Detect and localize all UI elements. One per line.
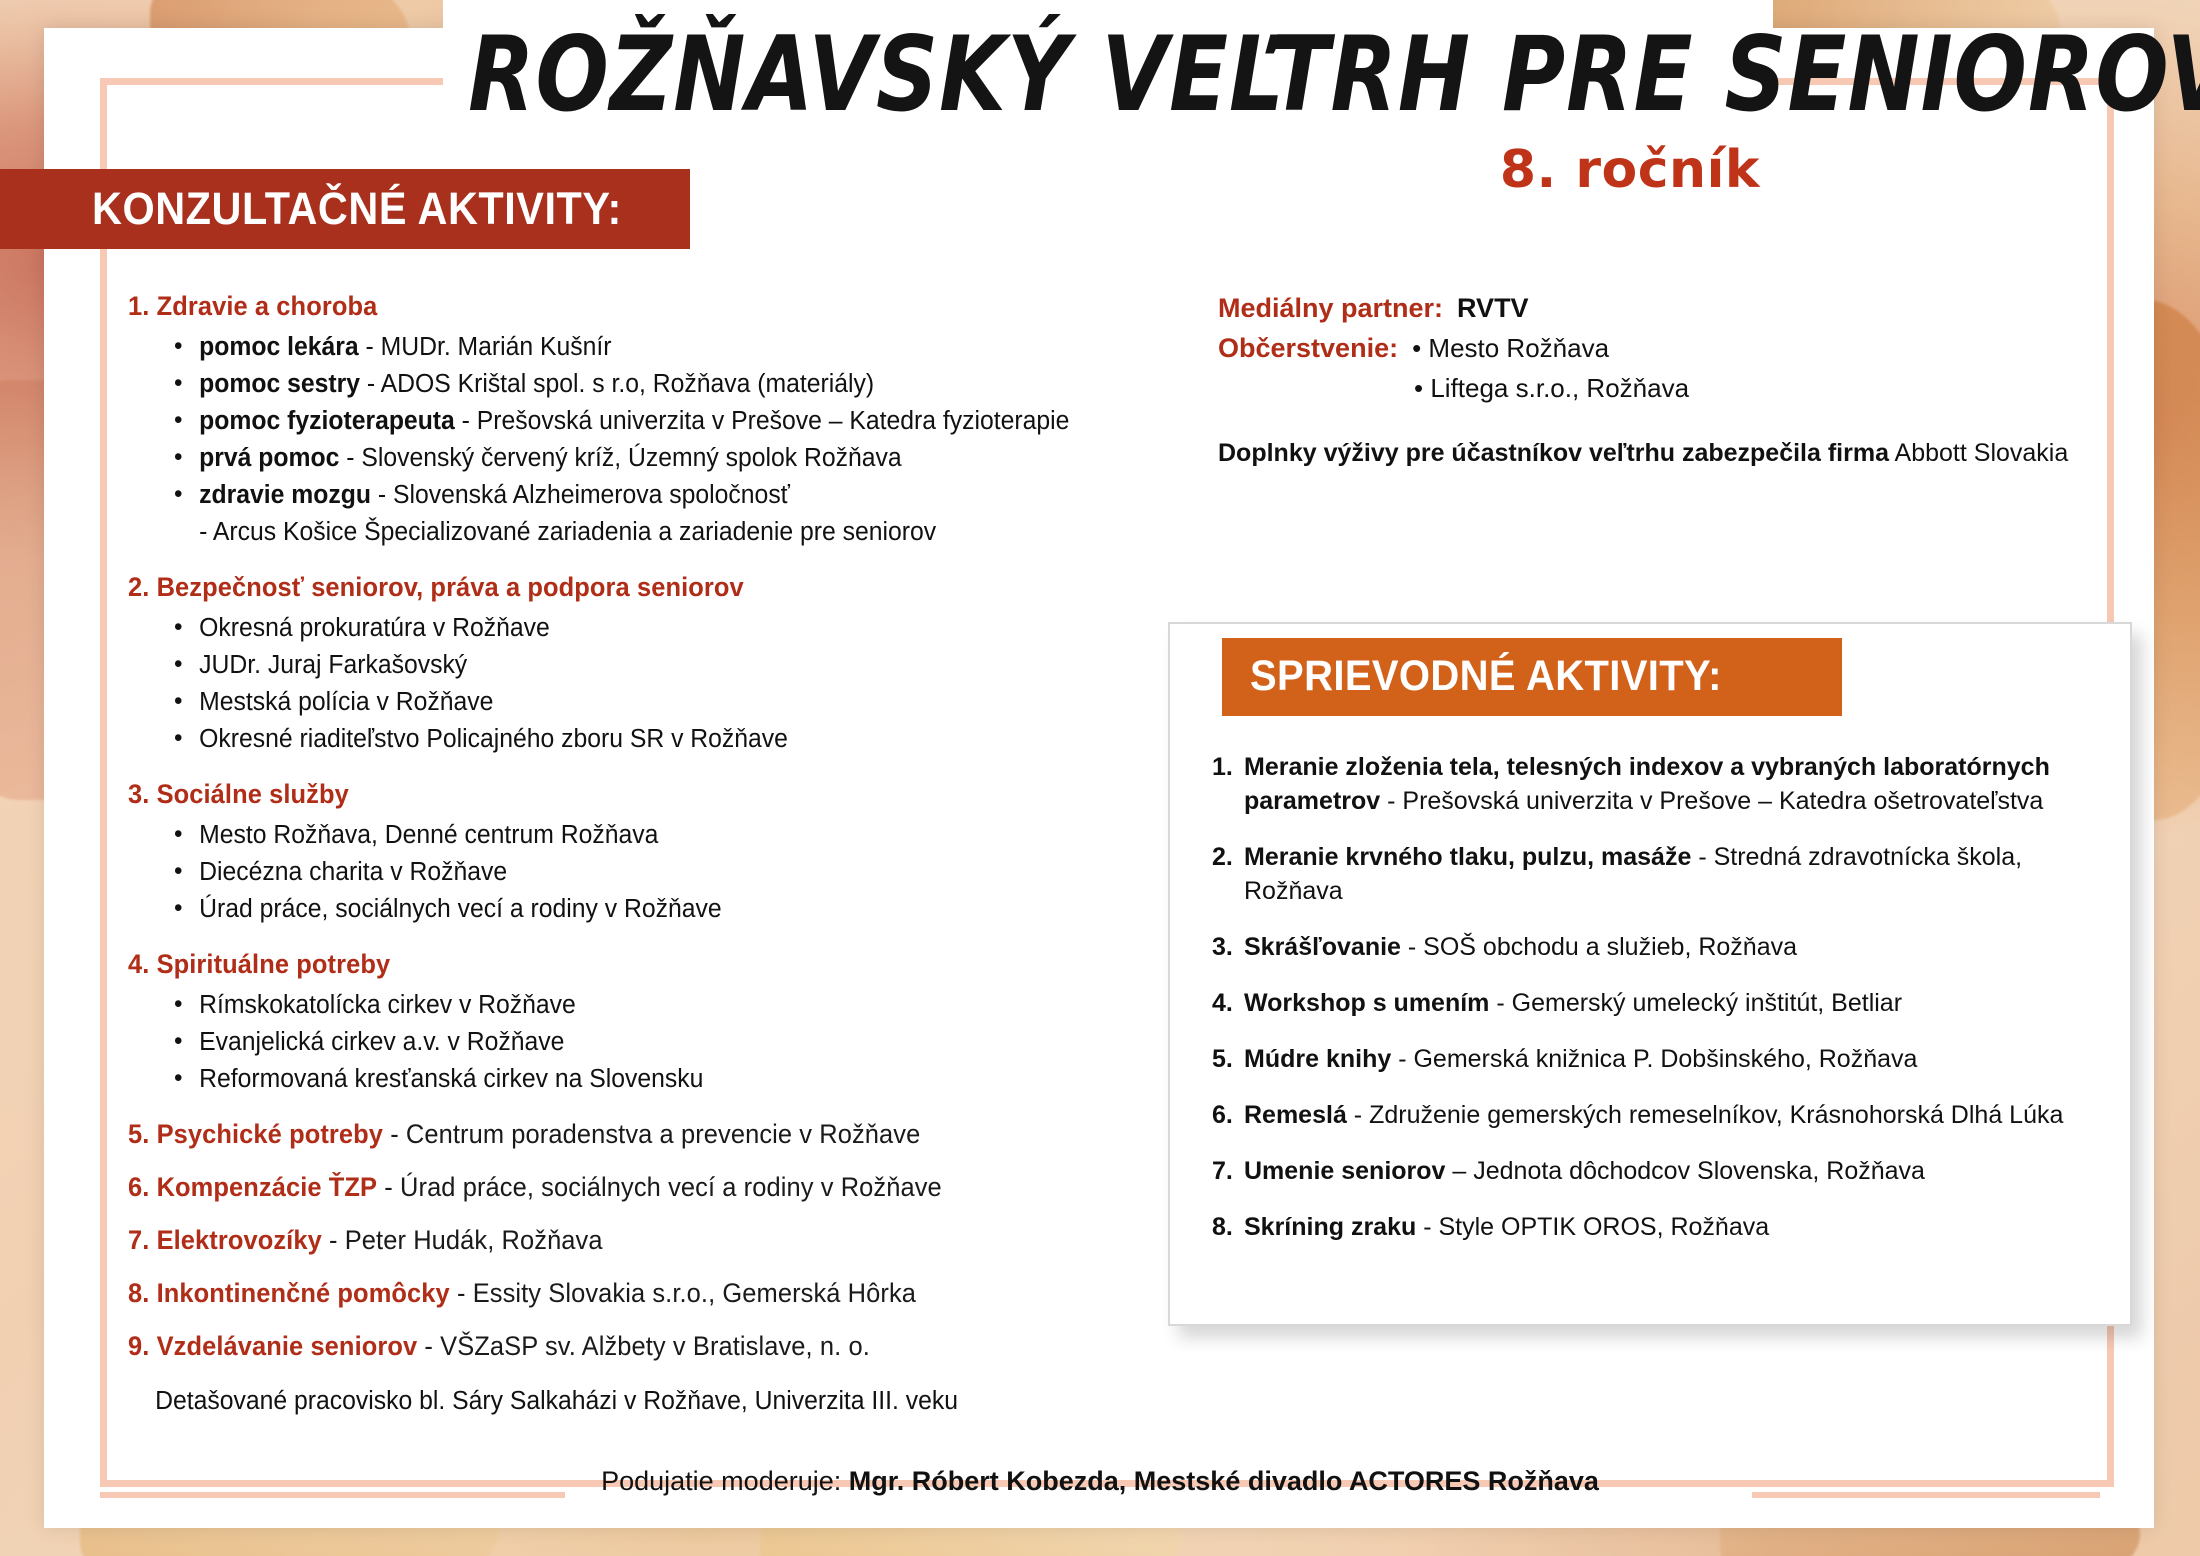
refreshment-row-2: Liftega s.r.o., Rožňava: [1218, 368, 2118, 408]
list-item-detail: - ADOS Krištal spol. s r.o, Rožňava (mat…: [360, 370, 874, 398]
list-item: pomoc fyzioterapeuta - Prešovská univerz…: [172, 403, 1158, 440]
accompanying-item-text: Skrášľovanie - SOŠ obchodu a služieb, Ro…: [1244, 930, 2092, 964]
accompanying-item-term: Remeslá: [1244, 1101, 1347, 1129]
accompanying-item-number: 8.: [1212, 1210, 1244, 1244]
list-item: Evanjelická cirkev a.v. v Rožňave: [172, 1024, 1158, 1061]
refreshment-item: Mesto Rožňava: [1412, 328, 1609, 368]
list-item: Okresná prokuratúra v Rožňave: [172, 610, 1158, 647]
accompanying-item-detail: - SOŠ obchodu a služieb, Rožňava: [1401, 933, 1797, 961]
list-item: zdravie mozgu - Slovenská Alzheimerova s…: [172, 477, 1158, 514]
edition-subtitle: 8. ročník: [1500, 140, 1760, 200]
accompanying-item-number: 4.: [1212, 986, 1244, 1020]
accompanying-item-detail: - Gemerský umelecký inštitút, Betliar: [1489, 989, 1902, 1017]
moderator-name: Mgr. Róbert Kobezda, Mestské divadlo ACT…: [841, 1466, 1599, 1496]
list-item: Rímskokatolícka cirkev v Rožňave: [172, 987, 1158, 1024]
list-item-detail: - Arcus Košice Špecializované zariadenia…: [199, 518, 936, 546]
accompanying-item-detail: – Jednota dôchodcov Slovenska, Rožňava: [1445, 1157, 1924, 1185]
accompanying-item-text: Skríning zraku - Style OPTIK OROS, Rožňa…: [1244, 1210, 2092, 1244]
accompanying-item: 6.Remeslá - Združenie gemerských remesel…: [1212, 1098, 2092, 1132]
consult-inline-detail: - Centrum poradenstva a prevencie v Rožň…: [383, 1119, 920, 1149]
list-item-detail: Reformovaná kresťanská cirkev na Slovens…: [199, 1065, 703, 1093]
accompanying-item: 3.Skrášľovanie - SOŠ obchodu a služieb, …: [1212, 930, 2092, 964]
consult-column: 1. Zdravie a chorobapomoc lekára - MUDr.…: [128, 290, 1188, 1420]
supplements-note-bold: Doplnky výživy pre účastníkov veľtrhu za…: [1218, 439, 1889, 467]
consult-inline-section: 5. Psychické potreby - Centrum poradenst…: [128, 1118, 1146, 1150]
poster-root: ROŽŇAVSKÝ VEĽTRH PRE SENIOROV 8. ročník …: [0, 0, 2200, 1556]
list-item: Reformovaná kresťanská cirkev na Slovens…: [172, 1061, 1158, 1098]
list-item-term: pomoc sestry: [199, 370, 360, 398]
list-item-detail: - Prešovská univerzita v Prešove – Kated…: [455, 407, 1070, 435]
accompanying-item-detail: - Style OPTIK OROS, Rožňava: [1416, 1213, 1769, 1241]
consult-inline-heading: 6. Kompenzácie ŤZP: [128, 1172, 377, 1202]
consult-section-heading: 1. Zdravie a choroba: [128, 290, 1146, 322]
list-item: Mestská polícia v Rožňave: [172, 684, 1158, 721]
accompanying-item-detail: - Združenie gemerských remeselníkov, Krá…: [1347, 1101, 2064, 1129]
accompanying-item-text: Remeslá - Združenie gemerských remeselní…: [1244, 1098, 2092, 1132]
consult-inline-detail: - Peter Hudák, Rožňava: [322, 1225, 603, 1255]
refreshment-item: Liftega s.r.o., Rožňava: [1414, 368, 1689, 408]
accompanying-list: 1.Meranie zloženia tela, telesných index…: [1212, 750, 2092, 1266]
accompanying-item-detail: - Prešovská univerzita v Prešove – Kated…: [1380, 787, 2043, 815]
list-item-term: prvá pomoc: [199, 444, 339, 472]
list-item-detail: Rímskokatolícka cirkev v Rožňave: [199, 991, 576, 1019]
list-item-detail: Mestská polícia v Rožňave: [199, 688, 493, 716]
partners-block: Mediálny partner: RVTV Občerstvenie: Mes…: [1218, 288, 2118, 470]
accompanying-item-term: Meranie krvného tlaku, pulzu, masáže: [1244, 843, 1691, 871]
page-title: ROŽŇAVSKÝ VEĽTRH PRE SENIOROV: [468, 18, 1752, 131]
consult-section-items: Okresná prokuratúra v RožňaveJUDr. Juraj…: [128, 610, 1188, 758]
list-item: prvá pomoc - Slovenský červený kríž, Úze…: [172, 440, 1158, 477]
list-item: Úrad práce, sociálnych vecí a rodiny v R…: [172, 891, 1158, 928]
list-item: pomoc sestry - ADOS Krištal spol. s r.o,…: [172, 366, 1158, 403]
moderator-line: Podujatie moderuje: Mgr. Róbert Kobezda,…: [601, 1466, 1599, 1497]
accompanying-item: 4.Workshop s umením - Gemerský umelecký …: [1212, 986, 2092, 1020]
consult-section-items: pomoc lekára - MUDr. Marián Kušnírpomoc …: [128, 329, 1188, 551]
consult-inline-section: 8. Inkontinenčné pomôcky - Essity Slovak…: [128, 1277, 1146, 1309]
accompanying-banner-label: SPRIEVODNÉ AKTIVITY:: [1250, 652, 1722, 701]
list-item-detail: Mesto Rožňava, Denné centrum Rožňava: [199, 821, 658, 849]
media-partner-value: RVTV: [1457, 288, 1529, 328]
list-item: pomoc lekára - MUDr. Marián Kušnír: [172, 329, 1158, 366]
accompanying-item-number: 2.: [1212, 840, 1244, 908]
consult-inline-section: 7. Elektrovozíky - Peter Hudák, Rožňava: [128, 1224, 1146, 1256]
moderator-prefix: Podujatie moderuje:: [601, 1466, 841, 1496]
accompanying-item-number: 6.: [1212, 1098, 1244, 1132]
accompanying-item-term: Skríning zraku: [1244, 1213, 1416, 1241]
media-partner-row: Mediálny partner: RVTV: [1218, 288, 2118, 328]
accompanying-item-number: 5.: [1212, 1042, 1244, 1076]
accompanying-item: 7.Umenie seniorov – Jednota dôchodcov Sl…: [1212, 1154, 2092, 1188]
list-item: Okresné riaditeľstvo Policajného zboru S…: [172, 721, 1158, 758]
accompanying-item-detail: - Gemerská knižnica P. Dobšinského, Rožň…: [1391, 1045, 1917, 1073]
consult-banner: KONZULTAČNÉ AKTIVITY:: [0, 169, 690, 249]
consult-section-items: Rímskokatolícka cirkev v RožňaveEvanjeli…: [128, 987, 1188, 1098]
consult-inline-heading: 7. Elektrovozíky: [128, 1225, 322, 1255]
consult-section: 2. Bezpečnosť seniorov, práva a podpora …: [128, 571, 1188, 758]
list-item-detail: Okresná prokuratúra v Rožňave: [199, 614, 550, 642]
list-item-detail: JUDr. Juraj Farkašovský: [199, 651, 467, 679]
consult-inline-section: 6. Kompenzácie ŤZP - Úrad práce, sociáln…: [128, 1171, 1146, 1203]
consult-section-heading: 3. Sociálne služby: [128, 778, 1146, 810]
accompanying-item-text: Umenie seniorov – Jednota dôchodcov Slov…: [1244, 1154, 2092, 1188]
consult-inline-heading: 9. Vzdelávanie seniorov: [128, 1331, 417, 1361]
consult-inline-heading: 8. Inkontinenčné pomôcky: [128, 1278, 450, 1308]
accompanying-item-term: Múdre knihy: [1244, 1045, 1391, 1073]
accompanying-item-text: Meranie krvného tlaku, pulzu, masáže - S…: [1244, 840, 2092, 908]
accompanying-item: 5.Múdre knihy - Gemerská knižnica P. Dob…: [1212, 1042, 2092, 1076]
accompanying-item-text: Workshop s umením - Gemerský umelecký in…: [1244, 986, 2092, 1020]
consult-continuation-line: Detašované pracovisko bl. Sáry Salkaházi…: [128, 1383, 1156, 1420]
supplements-note-rest: Abbott Slovakia: [1889, 439, 2068, 467]
accompanying-item-term: Umenie seniorov: [1244, 1157, 1445, 1185]
list-item: Diecézna charita v Rožňave: [172, 854, 1158, 891]
consult-banner-label: KONZULTAČNÉ AKTIVITY:: [92, 183, 622, 235]
consult-inline-detail: - Úrad práce, sociálnych vecí a rodiny v…: [377, 1172, 942, 1202]
consult-inline-detail: - VŠZaSP sv. Alžbety v Bratislave, n. o.: [417, 1331, 870, 1361]
accompanying-item: 8.Skríning zraku - Style OPTIK OROS, Rož…: [1212, 1210, 2092, 1244]
accompanying-banner: SPRIEVODNÉ AKTIVITY:: [1222, 638, 1842, 716]
consult-section-items: Mesto Rožňava, Denné centrum RožňavaDiec…: [128, 817, 1188, 928]
list-item-detail: - Slovenská Alzheimerova spoločnosť: [371, 481, 790, 509]
accompanying-item: 2.Meranie krvného tlaku, pulzu, masáže -…: [1212, 840, 2092, 908]
list-item-detail: Okresné riaditeľstvo Policajného zboru S…: [199, 725, 788, 753]
list-item: - Arcus Košice Špecializované zariadenia…: [172, 514, 1158, 551]
list-item: JUDr. Juraj Farkašovský: [172, 647, 1158, 684]
refreshment-row: Občerstvenie: Mesto Rožňava: [1218, 328, 2118, 368]
accompanying-item-number: 3.: [1212, 930, 1244, 964]
accompanying-item-term: Skrášľovanie: [1244, 933, 1401, 961]
list-item-detail: Diecézna charita v Rožňave: [199, 858, 507, 886]
consult-section-heading: 2. Bezpečnosť seniorov, práva a podpora …: [128, 571, 1146, 603]
accompanying-item-number: 7.: [1212, 1154, 1244, 1188]
list-item-detail: - Slovenský červený kríž, Územný spolok …: [339, 444, 901, 472]
consult-section: 3. Sociálne službyMesto Rožňava, Denné c…: [128, 778, 1188, 928]
supplements-note: Doplnky výživy pre účastníkov veľtrhu za…: [1218, 436, 2118, 470]
consult-inline-detail: - Essity Slovakia s.r.o., Gemerská Hôrka: [450, 1278, 916, 1308]
list-item-detail: Evanjelická cirkev a.v. v Rožňave: [199, 1028, 564, 1056]
consult-section: 4. Spirituálne potrebyRímskokatolícka ci…: [128, 948, 1188, 1098]
consult-inline-heading: 5. Psychické potreby: [128, 1119, 383, 1149]
accompanying-item: 1.Meranie zloženia tela, telesných index…: [1212, 750, 2092, 818]
refreshment-label: Občerstvenie:: [1218, 328, 1398, 368]
accompanying-item-term: Workshop s umením: [1244, 989, 1489, 1017]
list-item-term: pomoc fyzioterapeuta: [199, 407, 455, 435]
footer: Podujatie moderuje: Mgr. Róbert Kobezda,…: [0, 1466, 2200, 1497]
list-item-term: pomoc lekára: [199, 333, 358, 361]
list-item-detail: - MUDr. Marián Kušnír: [359, 333, 612, 361]
list-item-detail: Úrad práce, sociálnych vecí a rodiny v R…: [199, 895, 721, 923]
consult-section-heading: 4. Spirituálne potreby: [128, 948, 1146, 980]
accompanying-item-number: 1.: [1212, 750, 1244, 818]
consult-section: 1. Zdravie a chorobapomoc lekára - MUDr.…: [128, 290, 1188, 551]
media-partner-label: Mediálny partner:: [1218, 288, 1443, 328]
list-item: Mesto Rožňava, Denné centrum Rožňava: [172, 817, 1158, 854]
list-item-term: zdravie mozgu: [199, 481, 371, 509]
accompanying-item-text: Múdre knihy - Gemerská knižnica P. Dobši…: [1244, 1042, 2092, 1076]
consult-inline-section: 9. Vzdelávanie seniorov - VŠZaSP sv. Alž…: [128, 1330, 1146, 1362]
accompanying-item-text: Meranie zloženia tela, telesných indexov…: [1244, 750, 2092, 818]
